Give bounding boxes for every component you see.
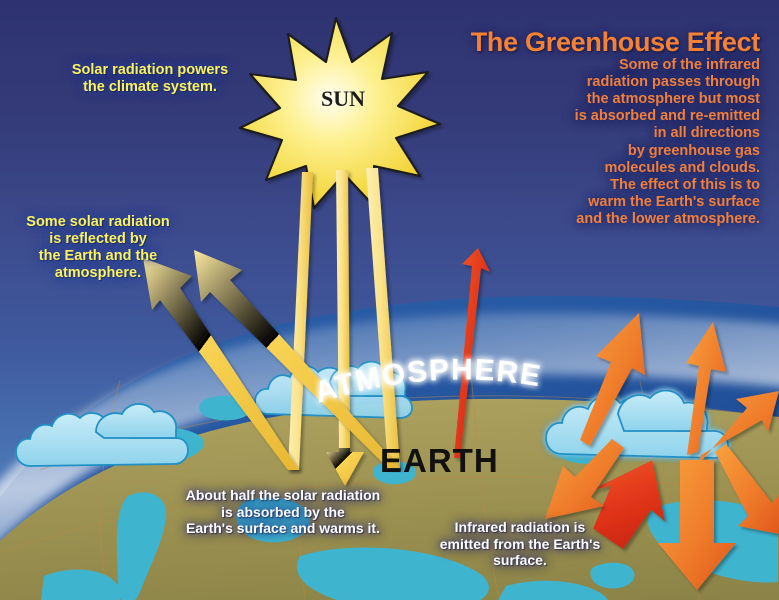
earth-label: EARTH	[380, 442, 499, 479]
page-title: The Greenhouse Effect	[420, 27, 760, 59]
annotation-infrared-emitted: Infrared radiation is emitted from the E…	[420, 519, 620, 569]
annotation-reflected-solar-radiation: Some solar radiation is reflected by the…	[8, 214, 188, 282]
annotation-greenhouse-description: Some of the infrared radiation passes th…	[498, 57, 760, 228]
annotation-absorbed-solar-radiation: About half the solar radiation is absorb…	[163, 487, 403, 537]
sun-label: SUN	[321, 86, 365, 111]
greenhouse-effect-diagram: SUN	[0, 0, 779, 600]
annotation-solar-radiation-powers: Solar radiation powers the climate syste…	[55, 62, 245, 96]
